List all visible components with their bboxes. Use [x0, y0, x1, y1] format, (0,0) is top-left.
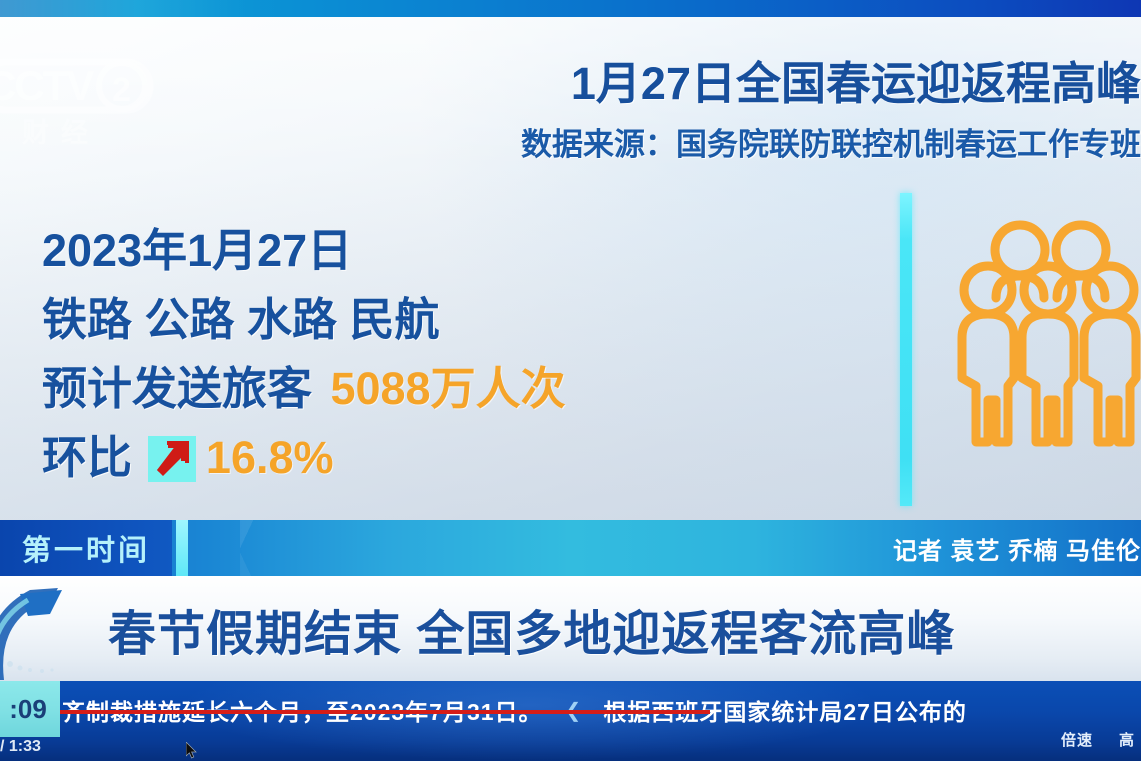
data-source-label: 数据来源：国务院联防联控机制春运工作专班 — [441, 119, 1141, 164]
reporter-credits: 记者 袁艺 乔楠 马佳伦 — [893, 520, 1141, 576]
mouse-cursor — [186, 742, 198, 760]
cctv-swoosh-icon — [0, 576, 106, 681]
people-group-icon — [948, 218, 1141, 483]
cctv-logo-watermark: CCTV 2 财经 — [0, 44, 178, 148]
page-title: 1月27日全国春运迎返程高峰 — [441, 60, 1141, 109]
stat-passengers-line: 预计发送旅客 5088万人次 — [42, 366, 566, 411]
headline-label: 春节假期结束 全国多地迎返程客流高峰 — [108, 594, 955, 664]
stat-passengers-value: 5088万人次 — [330, 363, 565, 414]
progress-bar[interactable] — [0, 710, 710, 714]
player-controls: 倍速 高 — [1061, 729, 1135, 750]
badge-separator — [176, 520, 188, 576]
header-block: 1月27日全国春运迎返程高峰 数据来源：国务院联防联控机制春运工作专班 — [441, 60, 1141, 164]
total-time-label: / 1:33 — [0, 738, 41, 756]
headline: 春节假期结束 全国多地迎返程客流高峰 — [108, 576, 955, 681]
speed-button[interactable]: 倍速 — [1061, 729, 1093, 750]
broadcast-frame: CCTV 2 财经 1月27日全国春运迎返程高峰 数据来源：国务院联防联控机制春… — [0, 0, 1141, 761]
statistics-block: 2023年1月27日 铁路 公路 水路 民航 预计发送旅客 5088万人次 环比… — [42, 228, 566, 506]
stat-change-label: 环比 — [42, 432, 132, 483]
stat-change-line: 环比 16.8% — [42, 435, 566, 482]
stat-transport-modes: 铁路 公路 水路 民航 — [42, 294, 440, 345]
current-time-display: :09 — [0, 681, 60, 737]
stat-change-value: 16.8% — [206, 432, 334, 483]
stat-passengers-label: 预计发送旅客 — [42, 363, 312, 414]
reporter-names: 记者 袁艺 乔楠 马佳伦 — [893, 531, 1141, 566]
current-time-label: :09 — [9, 694, 47, 725]
arrow-up-right-icon — [148, 436, 196, 482]
stat-date: 2023年1月27日 — [42, 225, 352, 276]
program-badge: 第一时间 — [0, 520, 172, 576]
quality-button[interactable]: 高 — [1119, 729, 1135, 750]
stat-modes-line: 铁路 公路 水路 民航 — [42, 297, 566, 342]
top-bar-sheen — [0, 0, 250, 17]
stat-date-line: 2023年1月27日 — [42, 228, 566, 273]
svg-text:财经: 财经 — [22, 117, 100, 148]
program-badge-label: 第一时间 — [22, 527, 150, 569]
vertical-divider — [900, 193, 912, 506]
top-gradient-bar — [0, 0, 1141, 17]
svg-text:2: 2 — [112, 71, 131, 109]
strip-pattern — [240, 520, 880, 576]
svg-text:CCTV: CCTV — [0, 62, 94, 109]
